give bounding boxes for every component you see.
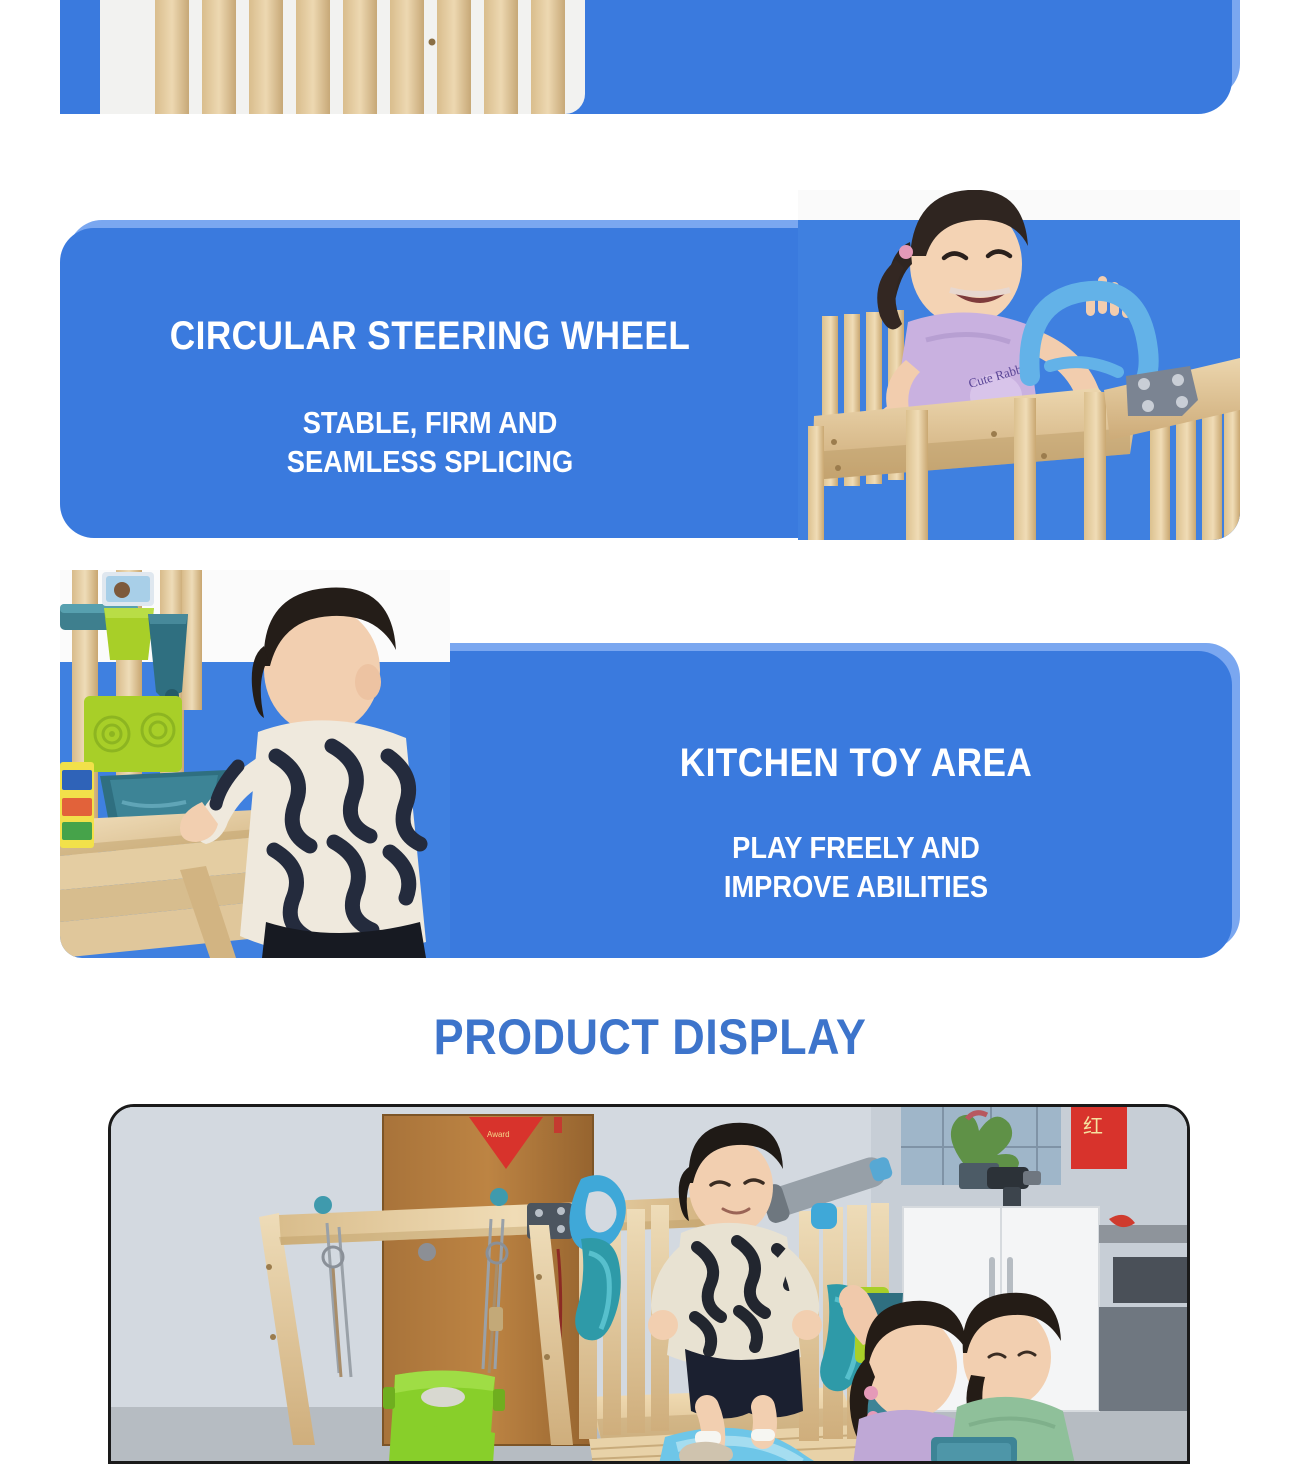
feature-subtitle-line-2: IMPROVE ABILITIES — [525, 867, 1187, 907]
svg-text:红: 红 — [1083, 1115, 1103, 1138]
feature-title: CIRCULAR STEERING WHEEL — [104, 314, 755, 359]
feature-photo-kitchen-toy-area — [60, 570, 450, 958]
product-detail-page: LOVED BY BABIES — [0, 0, 1300, 1464]
svg-text:Award: Award — [487, 1130, 510, 1139]
feature-photo-steering-wheel: Cute Rabbit — [798, 190, 1240, 540]
product-display-heading: PRODUCT DISPLAY — [65, 1008, 1235, 1066]
feature-text-block: KITCHEN TOY AREA PLAY FREELY AND IMPROVE… — [480, 651, 1232, 907]
feature-photo-loved-by-babies — [60, 0, 585, 114]
feature-panel-circular-steering-wheel: Cute Rabbit — [0, 220, 1300, 540]
feature-subtitle-line-1: PLAY FREELY AND — [525, 828, 1187, 868]
feature-subtitle-line-2: SEAMLESS SPLICING — [104, 442, 755, 482]
feature-panel-loved-by-babies: LOVED BY BABIES — [0, 0, 1300, 114]
feature-subtitle-line-1: STABLE, FIRM AND — [104, 403, 755, 443]
product-display-photo: Award — [108, 1104, 1190, 1464]
feature-text-block: CIRCULAR STEERING WHEEL STABLE, FIRM AND… — [60, 228, 800, 482]
feature-title: KITCHEN TOY AREA — [525, 741, 1187, 786]
feature-panel-kitchen-toy-area: KITCHEN TOY AREA PLAY FREELY AND IMPROVE… — [0, 643, 1300, 963]
